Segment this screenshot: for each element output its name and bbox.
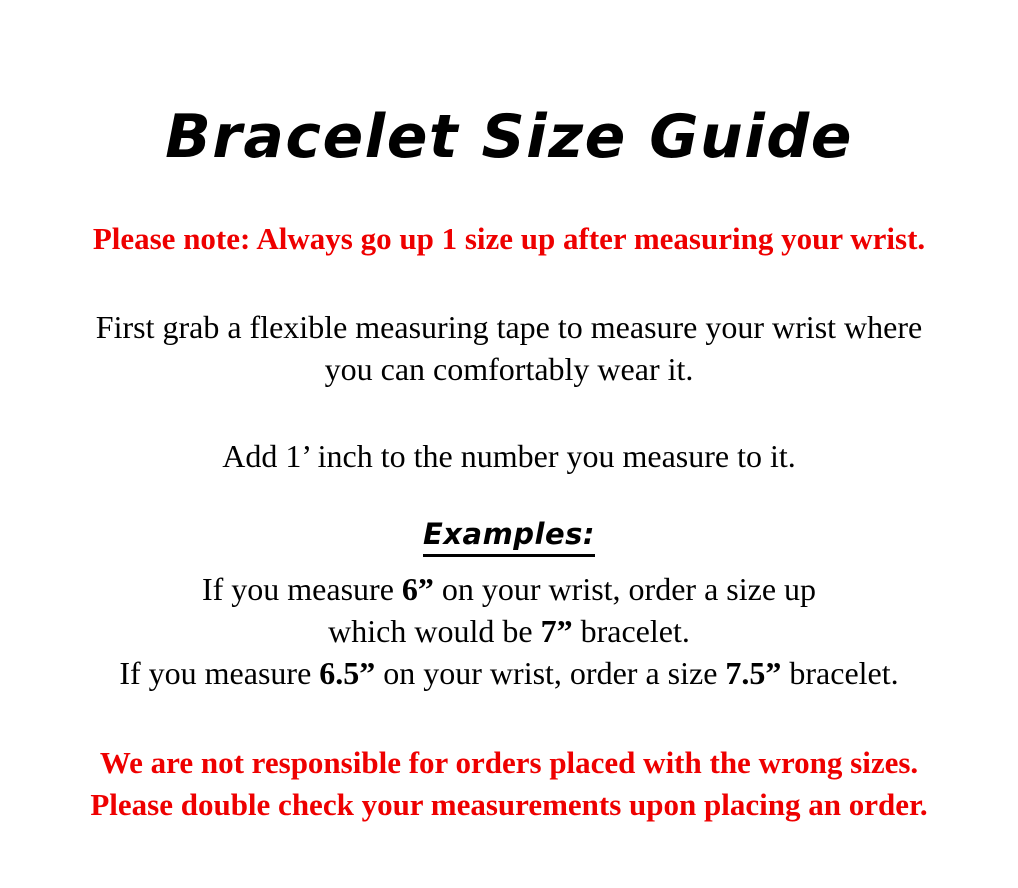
examples-list: If you measure 6” on your wrist, order a… [0, 568, 1018, 694]
example-1-line2-suffix: bracelet. [573, 613, 690, 649]
example-2-prefix: If you measure [119, 655, 319, 691]
measure-instruction-line-1: First grab a flexible measuring tape to … [0, 306, 1018, 348]
example-2-line: If you measure 6.5” on your wrist, order… [0, 652, 1018, 694]
example-1-recommended-size: 7” [541, 613, 573, 649]
example-1-middle: on your wrist, order a size up [434, 571, 816, 607]
measure-instruction-line-2: you can comfortably wear it. [0, 348, 1018, 390]
disclaimer-block: We are not responsible for orders placed… [0, 742, 1018, 826]
page-title: Bracelet Size Guide [0, 98, 1018, 176]
measure-instruction-paragraph: First grab a flexible measuring tape to … [0, 306, 1018, 390]
add-inch-line: Add 1’ inch to the number you measure to… [0, 435, 1018, 477]
example-1-measured-value: 6” [402, 571, 434, 607]
example-1-line2-prefix: which would be [328, 613, 540, 649]
example-1-line-1: If you measure 6” on your wrist, order a… [0, 568, 1018, 610]
add-inch-paragraph: Add 1’ inch to the number you measure to… [0, 435, 1018, 477]
disclaimer-line-1: We are not responsible for orders placed… [0, 742, 1018, 784]
top-warning-note: Please note: Always go up 1 size up afte… [0, 220, 1018, 258]
example-1-prefix: If you measure [202, 571, 402, 607]
example-2-recommended-size: 7.5” [725, 655, 781, 691]
example-1-line-2: which would be 7” bracelet. [0, 610, 1018, 652]
examples-heading: Examples: [423, 516, 595, 557]
example-2-measured-value: 6.5” [319, 655, 375, 691]
disclaimer-line-2: Please double check your measurements up… [0, 784, 1018, 826]
examples-heading-container: Examples: [0, 516, 1018, 557]
example-2-suffix: bracelet. [781, 655, 898, 691]
bracelet-size-guide-page: Bracelet Size Guide Please note: Always … [0, 0, 1018, 888]
example-2-middle: on your wrist, order a size [375, 655, 725, 691]
